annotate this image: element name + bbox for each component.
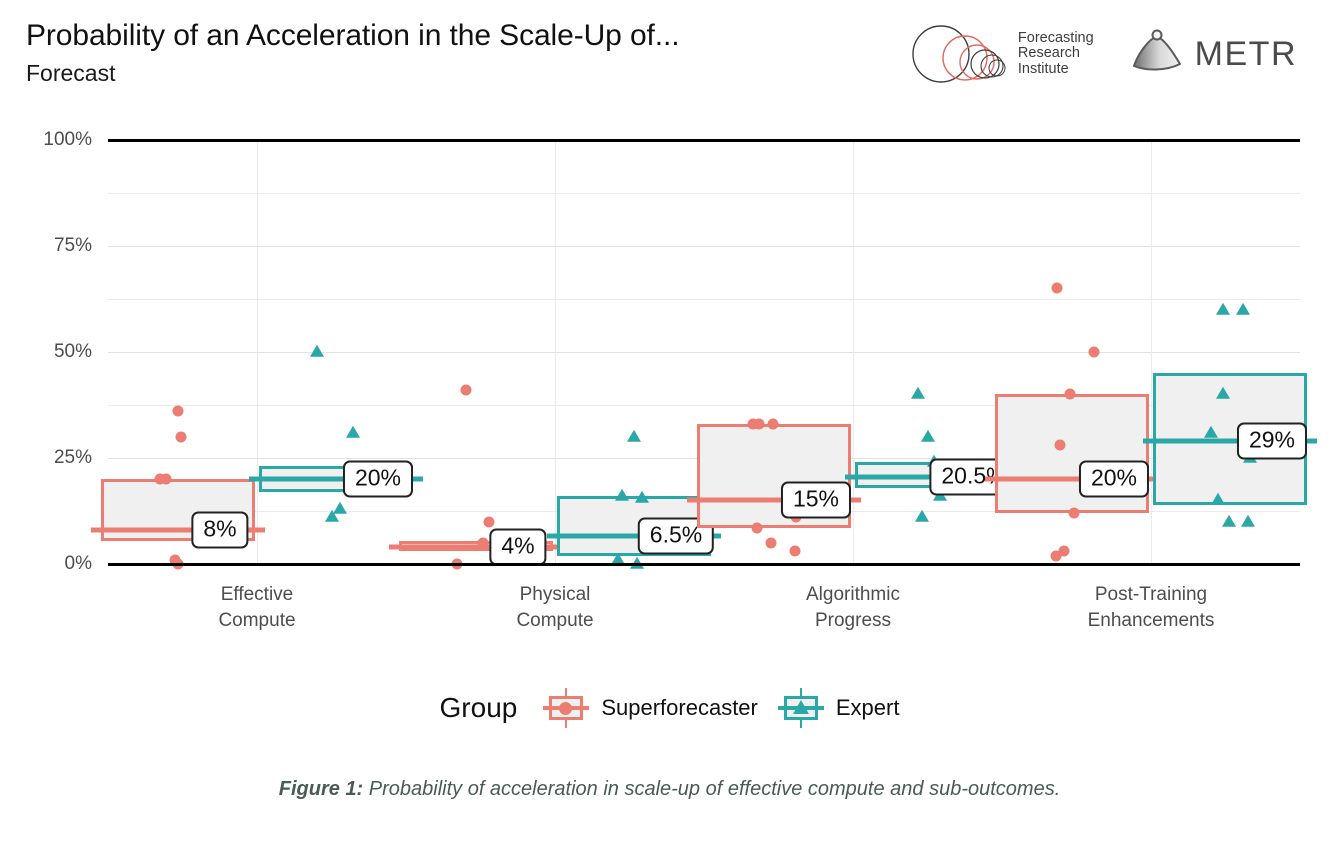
- data-point-triangle: [915, 510, 929, 522]
- y-axis-tick-label: 100%: [43, 129, 92, 151]
- data-point-triangle: [1236, 302, 1250, 314]
- data-point-circle: [161, 474, 172, 485]
- data-point-circle: [1054, 440, 1065, 451]
- fri-circles-icon: [907, 22, 1011, 86]
- median-value-label: 20%: [343, 461, 413, 498]
- data-point-circle: [789, 546, 800, 557]
- metr-wordmark: METR: [1195, 35, 1297, 74]
- x-axis-tick-label: Post-Training Enhancements: [1088, 582, 1215, 634]
- gridline-minor: [108, 193, 1300, 194]
- median-value-label: 8%: [191, 512, 248, 549]
- fri-line-1: Forecasting: [1018, 31, 1094, 47]
- data-point-circle: [766, 537, 777, 548]
- gridline-vertical: [555, 140, 556, 564]
- y-axis-tick-label: 0%: [65, 553, 92, 575]
- legend-label-expert: Expert: [836, 695, 900, 721]
- data-point-triangle: [635, 491, 649, 503]
- x-axis-tick-label: Physical Compute: [516, 582, 593, 634]
- data-point-circle: [1064, 389, 1075, 400]
- chart-plot: 8%20%4%6.5%15%20.5%20%29% 0%25%50%75%100…: [0, 112, 1339, 672]
- data-point-triangle: [1216, 302, 1230, 314]
- data-point-triangle: [627, 430, 641, 442]
- data-point-triangle: [325, 510, 339, 522]
- y-axis-tick-label: 75%: [54, 235, 92, 257]
- gridline-major: [108, 352, 1300, 353]
- data-point-circle: [1051, 283, 1062, 294]
- median-value-label: 15%: [781, 482, 851, 519]
- data-point-circle: [1089, 347, 1100, 358]
- data-point-circle: [748, 419, 759, 430]
- data-point-circle: [1051, 550, 1062, 561]
- metr-bell-icon: [1130, 29, 1186, 79]
- data-point-triangle: [921, 430, 935, 442]
- y-axis-tick-label: 50%: [54, 341, 92, 363]
- axis-line-bottom: [108, 563, 1300, 566]
- y-axis-tick-label: 25%: [54, 447, 92, 469]
- axis-line-top: [108, 139, 1300, 142]
- data-point-triangle: [1211, 493, 1225, 505]
- data-point-triangle: [1216, 387, 1230, 399]
- data-point-triangle: [615, 489, 629, 501]
- gridline-vertical: [1151, 140, 1152, 564]
- chart-header: Probability of an Acceleration in the Sc…: [0, 0, 1339, 112]
- logo-group: Forecasting Research Institute: [907, 22, 1297, 86]
- data-point-triangle: [310, 345, 324, 357]
- legend-title: Group: [440, 692, 518, 724]
- data-point-circle: [175, 431, 186, 442]
- gridline-major: [108, 246, 1300, 247]
- legend: Group Superforecaster Expert: [0, 688, 1339, 728]
- data-point-triangle: [911, 387, 925, 399]
- figure-caption: Figure 1: Probability of acceleration in…: [0, 778, 1339, 801]
- data-point-triangle: [346, 425, 360, 437]
- legend-key-boxplot-triangle-icon: [778, 688, 824, 728]
- forecasting-research-institute-logo: Forecasting Research Institute: [907, 22, 1094, 86]
- data-point-circle: [1069, 508, 1080, 519]
- fri-wordmark: Forecasting Research Institute: [1018, 31, 1094, 78]
- data-point-triangle: [1204, 425, 1218, 437]
- page-subtitle: Forecast: [26, 58, 876, 88]
- page-title: Probability of an Acceleration in the Sc…: [26, 16, 876, 56]
- fri-line-3: Institute: [1018, 62, 1094, 78]
- fri-line-2: Research: [1018, 46, 1094, 62]
- title-block: Probability of an Acceleration in the Sc…: [26, 16, 876, 88]
- chart-page: Probability of an Acceleration in the Sc…: [0, 0, 1339, 842]
- legend-item-superforecaster[interactable]: Superforecaster: [543, 688, 758, 728]
- data-point-triangle: [1241, 514, 1255, 526]
- median-value-label: 29%: [1237, 423, 1307, 460]
- gridline-vertical: [257, 140, 258, 564]
- legend-key-boxplot-circle-icon: [543, 688, 589, 728]
- data-point-circle: [172, 406, 183, 417]
- data-point-circle: [483, 516, 494, 527]
- gridline-minor: [108, 299, 1300, 300]
- legend-item-expert[interactable]: Expert: [778, 688, 900, 728]
- figure-caption-text: Probability of acceleration in scale-up …: [363, 778, 1060, 800]
- metr-logo: METR: [1130, 29, 1297, 79]
- data-point-circle: [461, 385, 472, 396]
- data-point-triangle: [1222, 514, 1236, 526]
- figure-caption-prefix: Figure 1:: [279, 778, 363, 800]
- plot-panel: 8%20%4%6.5%15%20.5%20%29%: [108, 140, 1300, 564]
- median-value-label: 20%: [1079, 461, 1149, 498]
- data-point-circle: [768, 419, 779, 430]
- data-point-circle: [751, 522, 762, 533]
- x-axis-tick-label: Algorithmic Progress: [806, 582, 900, 634]
- x-axis-tick-label: Effective Compute: [218, 582, 295, 634]
- data-point-circle: [478, 537, 489, 548]
- median-value-label: 4%: [489, 529, 546, 566]
- legend-label-superforecaster: Superforecaster: [601, 695, 758, 721]
